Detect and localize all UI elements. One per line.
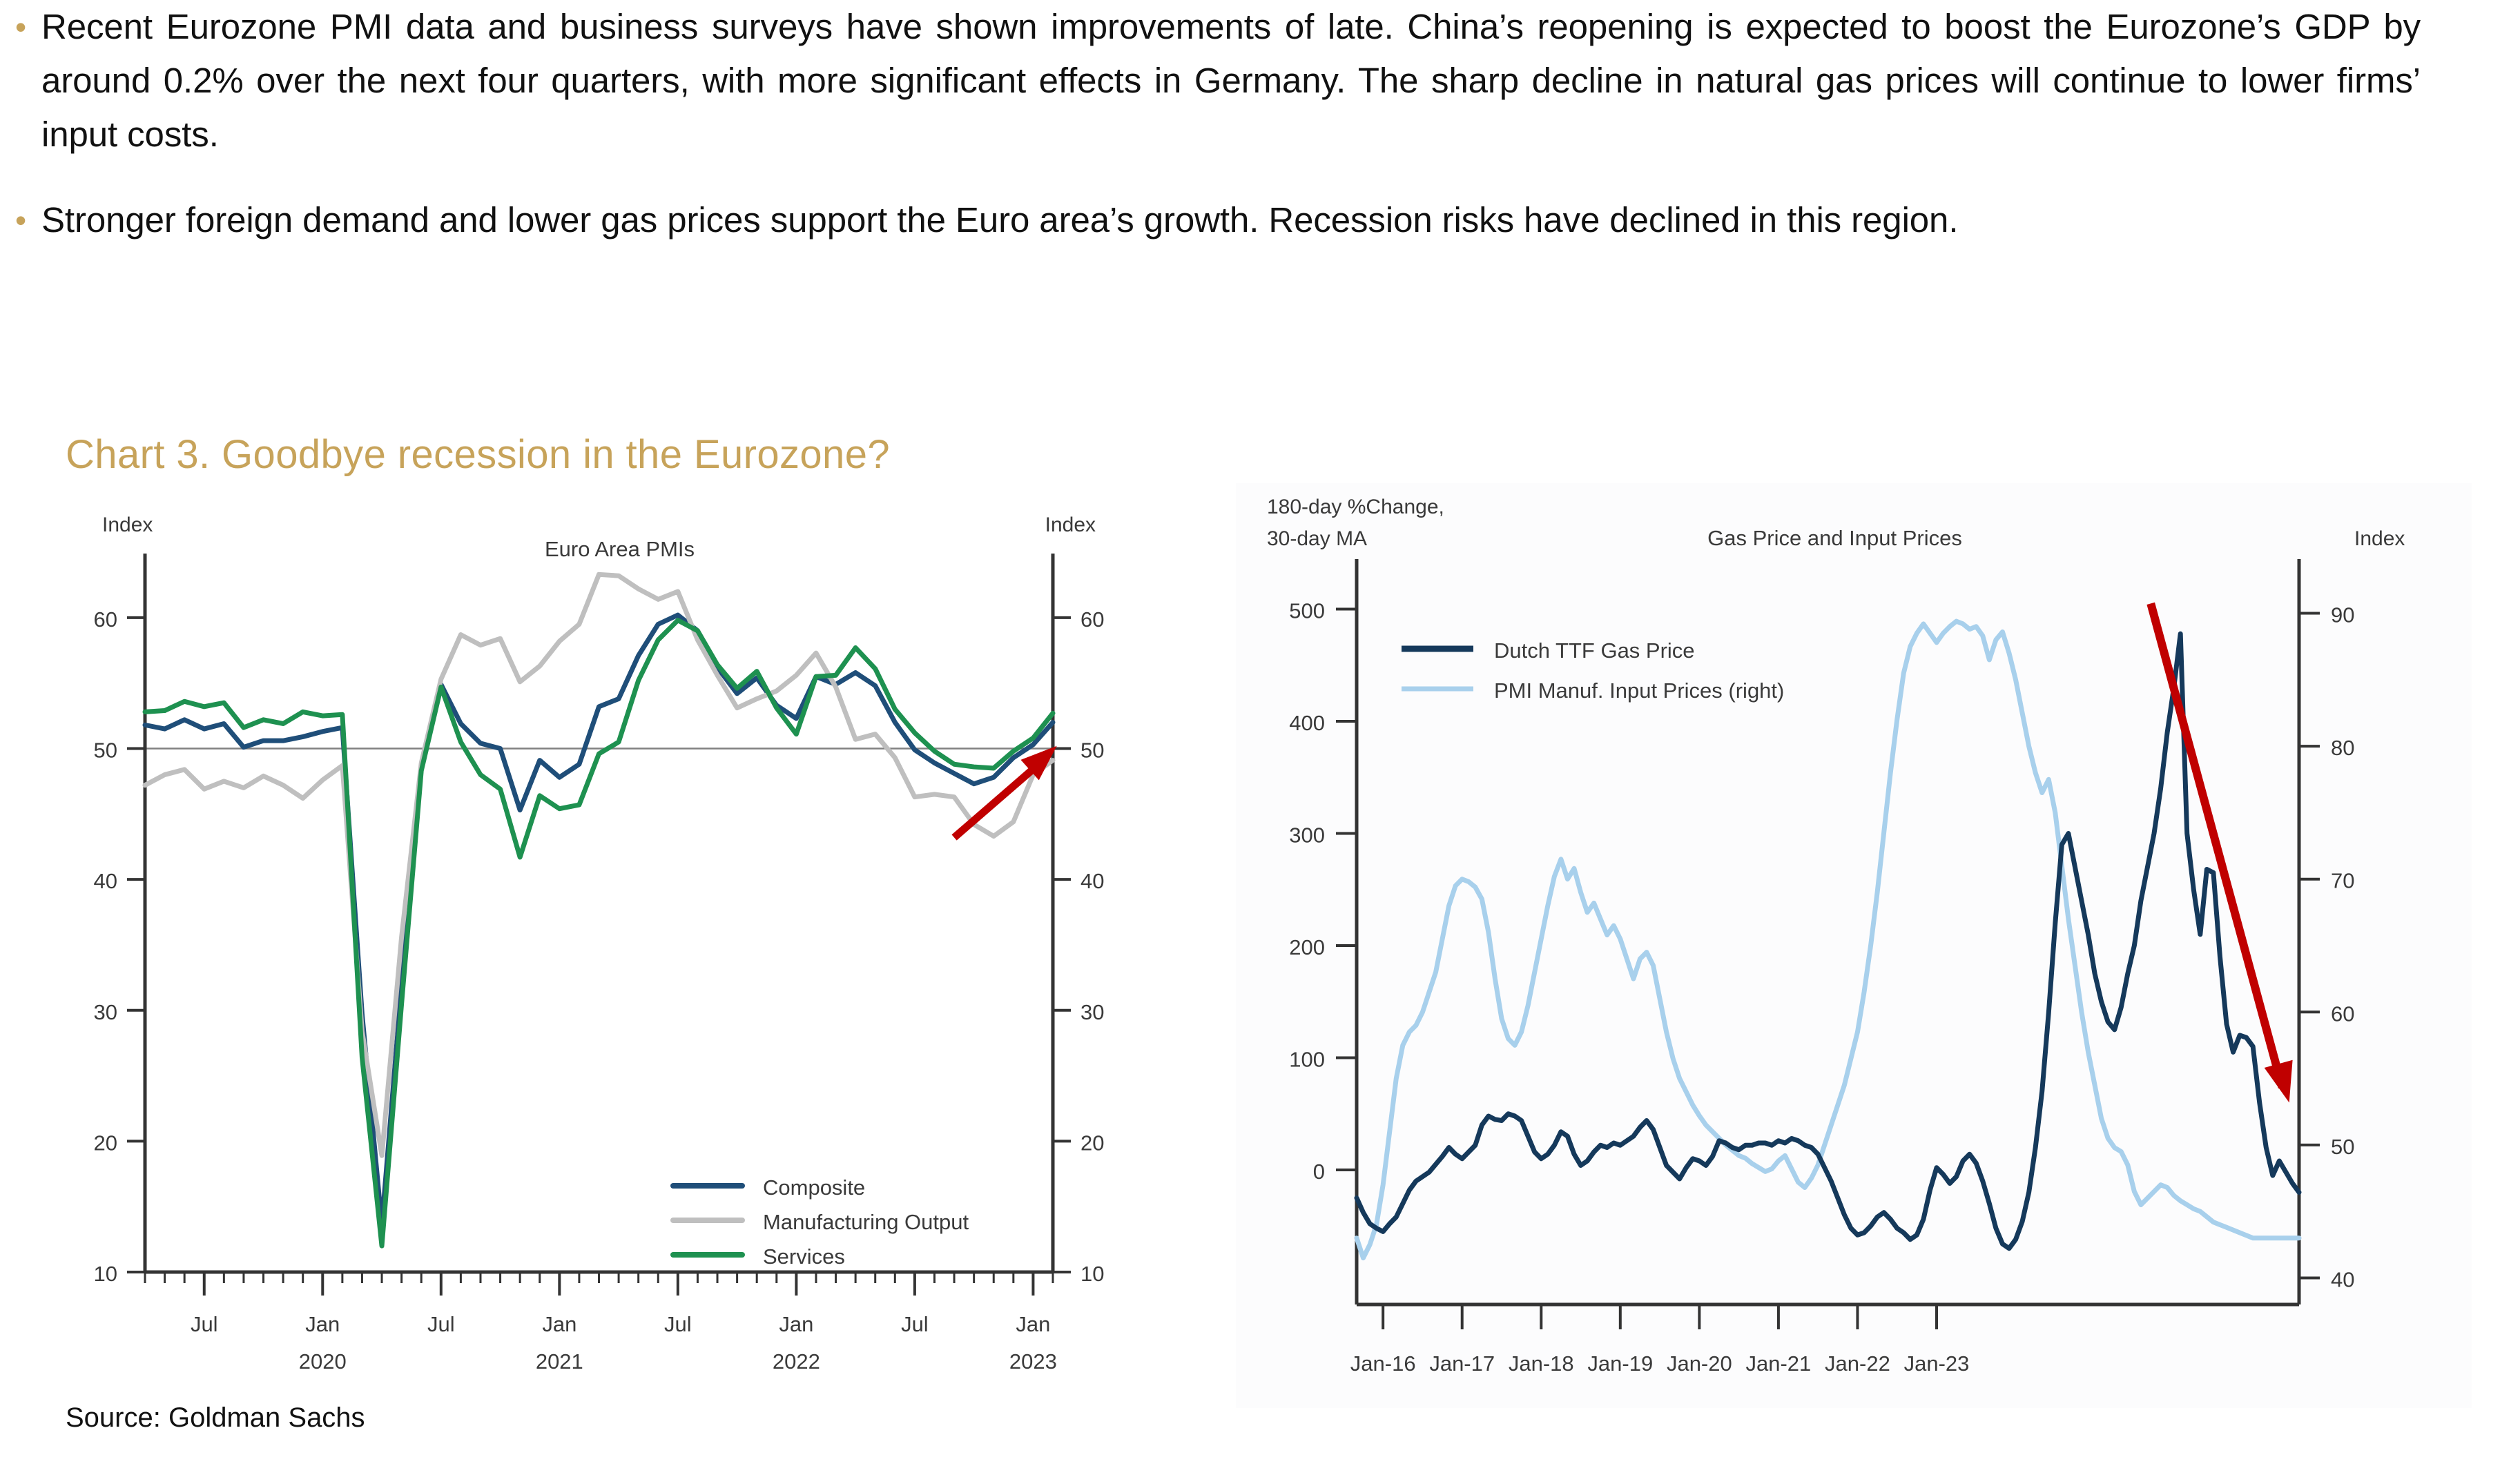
bullet-list: • Recent Eurozone PMI data and business … bbox=[0, 0, 2437, 279]
axis-tick-label: 40 bbox=[1080, 869, 1104, 893]
chart-subtitle: Euro Area PMIs bbox=[545, 537, 695, 561]
axis-tick-label: 40 bbox=[94, 869, 117, 893]
x-axis-tick-label: Jan-17 bbox=[1429, 1351, 1495, 1376]
right-axis-label: Index bbox=[2354, 527, 2405, 550]
x-axis-tick-label: 2022 bbox=[773, 1349, 820, 1374]
series-line-composite bbox=[145, 615, 1053, 1225]
bullet-marker-icon: • bbox=[0, 193, 41, 247]
chart-panel-gas-price-input-prices: 180-day %Change,30-day MAGas Price and I… bbox=[1236, 483, 2472, 1408]
axis-tick-label: 400 bbox=[1289, 711, 1325, 735]
axis-tick-label: 50 bbox=[94, 739, 117, 763]
axis-tick-label: 30 bbox=[94, 1000, 117, 1024]
x-axis-tick-label: Jan-20 bbox=[1667, 1351, 1732, 1376]
x-axis-tick-label: Jul bbox=[427, 1312, 455, 1336]
bullet-marker-icon: • bbox=[0, 0, 41, 54]
x-axis-tick-label: Jan bbox=[542, 1312, 576, 1336]
axis-tick-label: 20 bbox=[1080, 1131, 1104, 1155]
legend-label: Manufacturing Output bbox=[763, 1210, 969, 1234]
axis-tick-label: 70 bbox=[2331, 869, 2354, 893]
axis-tick-label: 80 bbox=[2331, 736, 2354, 760]
bullet-text: Recent Eurozone PMI data and business su… bbox=[41, 0, 2437, 162]
chart-subtitle: Gas Price and Input Prices bbox=[1707, 526, 1962, 550]
x-axis-tick-label: Jan-21 bbox=[1746, 1351, 1812, 1376]
x-axis-tick-label: Jan-22 bbox=[1825, 1351, 1890, 1376]
axis-tick-label: 50 bbox=[1080, 739, 1104, 763]
x-axis-tick-label: 2021 bbox=[536, 1349, 583, 1374]
x-axis-tick-label: Jan bbox=[1016, 1312, 1050, 1336]
axis-tick-label: 0 bbox=[1313, 1160, 1325, 1184]
x-axis-tick-label: 2023 bbox=[1009, 1349, 1057, 1374]
x-axis-tick-label: Jul bbox=[901, 1312, 929, 1336]
axis-tick-label: 300 bbox=[1289, 823, 1325, 848]
axis-tick-label: 50 bbox=[2331, 1135, 2354, 1159]
axis-tick-label: 60 bbox=[94, 607, 117, 632]
chart-panel-euro-area-pmis: IndexIndexEuro Area PMIs1020304050601020… bbox=[41, 496, 1201, 1400]
x-axis-tick-label: Jul bbox=[664, 1312, 692, 1336]
panel-background bbox=[1236, 483, 2472, 1408]
axis-tick-label: 60 bbox=[2331, 1001, 2354, 1026]
list-item: • Stronger foreign demand and lower gas … bbox=[0, 193, 2437, 247]
x-axis-tick-label: Jul bbox=[191, 1312, 218, 1336]
x-axis-tick-label: Jan bbox=[779, 1312, 813, 1336]
axis-tick-label: 100 bbox=[1289, 1048, 1325, 1072]
legend-label: Dutch TTF Gas Price bbox=[1494, 638, 1695, 663]
x-axis-tick-label: Jan bbox=[305, 1312, 340, 1336]
axis-tick-label: 20 bbox=[94, 1131, 117, 1155]
axis-tick-label: 30 bbox=[1080, 1000, 1104, 1024]
list-item: • Recent Eurozone PMI data and business … bbox=[0, 0, 2437, 162]
chart-legend: CompositeManufacturing OutputServices bbox=[673, 1175, 969, 1269]
legend-label: Services bbox=[763, 1244, 845, 1269]
bullet-text: Stronger foreign demand and lower gas pr… bbox=[41, 193, 2437, 247]
x-axis-tick-label: 2020 bbox=[299, 1349, 347, 1374]
source-note: Source: Goldman Sachs bbox=[66, 1403, 365, 1434]
x-axis-tick-label: Jan-18 bbox=[1509, 1351, 1574, 1376]
axis-tick-label: 10 bbox=[94, 1262, 117, 1286]
right-axis-label: Index bbox=[1045, 514, 1096, 536]
legend-label: Composite bbox=[763, 1175, 865, 1200]
left-axis-label: 180-day %Change, bbox=[1267, 496, 1444, 518]
series-line-manufacturing-output bbox=[145, 574, 1053, 1155]
left-axis-label: Index bbox=[102, 514, 153, 536]
x-axis-tick-label: Jan-16 bbox=[1350, 1351, 1416, 1376]
legend-label: PMI Manuf. Input Prices (right) bbox=[1494, 678, 1784, 703]
axis-tick-label: 60 bbox=[1080, 607, 1104, 632]
axis-tick-label: 10 bbox=[1080, 1262, 1104, 1286]
axis-tick-label: 200 bbox=[1289, 935, 1325, 959]
x-axis-tick-label: Jan-23 bbox=[1904, 1351, 1970, 1376]
axis-tick-label: 40 bbox=[2331, 1267, 2354, 1291]
chart-heading: Chart 3. Goodbye recession in the Eurozo… bbox=[66, 431, 890, 478]
axis-tick-label: 90 bbox=[2331, 603, 2354, 627]
x-axis-tick-label: Jan-19 bbox=[1587, 1351, 1653, 1376]
left-axis-label-2: 30-day MA bbox=[1267, 527, 1367, 550]
series-line-services bbox=[145, 620, 1053, 1246]
axis-tick-label: 500 bbox=[1289, 599, 1325, 623]
